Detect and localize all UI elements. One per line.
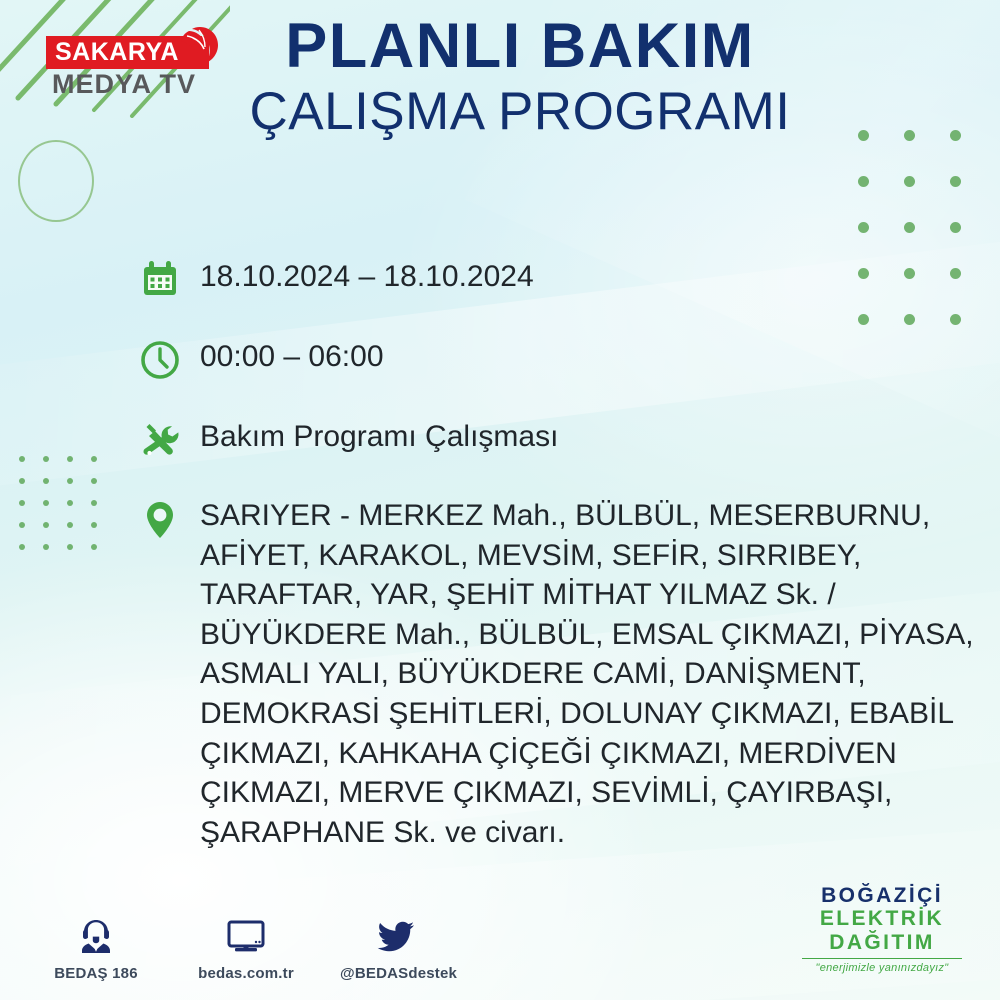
contact-phone[interactable]: BEDAŞ 186	[40, 911, 152, 982]
bedas-logo-line-1: BOĞAZİÇİ	[792, 884, 972, 908]
dot-grid-decoration-left	[10, 448, 106, 558]
map-pin-icon	[138, 492, 200, 548]
page-title: PLANLI BAKIM	[200, 14, 840, 78]
time-row: 00:00 – 06:00	[138, 332, 968, 388]
address-line: TARAFTAR, YAR, ŞEHİT MİTHAT YILMAZ Sk. /	[200, 575, 974, 615]
contact-website[interactable]: bedas.com.tr	[190, 911, 302, 982]
date-range-text: 18.10.2024 – 18.10.2024	[200, 252, 534, 296]
calendar-icon	[138, 252, 200, 308]
logo-sub-text: MEDYA TV	[52, 70, 206, 100]
bedas-logo-tagline: "enerjimizle yanınızdayız"	[792, 962, 972, 974]
address-line: BÜYÜKDERE Mah., BÜLBÜL, EMSAL ÇIKMAZI, P…	[200, 615, 974, 655]
footer-contacts: BEDAŞ 186 bedas.com.tr @BEDASdestek	[40, 911, 452, 982]
sakarya-medya-tv-logo: SAKARYA MEDYA TV	[46, 36, 206, 100]
address-line: AFİYET, KARAKOL, MEVSİM, SEFİR, SIRRIBEY…	[200, 536, 974, 576]
work-type-text: Bakım Programı Çalışması	[200, 412, 558, 456]
bedas-logo-line-2: ELEKTRİK	[792, 907, 972, 931]
address-line: ÇIKMAZI, MERVE ÇIKMAZI, SEVİMLİ, ÇAYIRBA…	[200, 773, 974, 813]
bedas-logo: BOĞAZİÇİ ELEKTRİK DAĞITIM "enerjimizle y…	[792, 884, 972, 974]
time-range-text: 00:00 – 06:00	[200, 332, 384, 376]
address-line: ÇIKMAZI, KAHKAHA ÇİÇEĞİ ÇIKMAZI, MERDİVE…	[200, 734, 974, 774]
logo-banner: SAKARYA	[46, 36, 209, 69]
contact-twitter[interactable]: @BEDASdestek	[340, 911, 452, 982]
poster-title-block: PLANLI BAKIM ÇALIŞMA PROGRAMI	[200, 14, 840, 142]
contact-twitter-label: @BEDASdestek	[340, 965, 452, 982]
twitter-bird-icon	[340, 911, 452, 957]
monitor-icon	[190, 911, 302, 957]
address-line: ŞARAPHANE Sk. ve civarı.	[200, 813, 974, 853]
headset-support-icon	[40, 911, 152, 957]
circle-outline-decoration	[18, 140, 94, 222]
work-type-row: Bakım Programı Çalışması	[138, 412, 968, 468]
address-line: SARIYER - MERKEZ Mah., BÜLBÜL, MESERBURN…	[200, 496, 974, 536]
date-row: 18.10.2024 – 18.10.2024	[138, 252, 968, 308]
clock-icon	[138, 332, 200, 388]
address-line: DEMOKRASİ ŞEHİTLERİ, DOLUNAY ÇIKMAZI, EB…	[200, 694, 974, 734]
poster-canvas: SAKARYA MEDYA TV PLANLI BAKIM ÇALIŞMA PR…	[0, 0, 1000, 1000]
page-subtitle: ÇALIŞMA PROGRAMI	[200, 82, 840, 141]
contact-website-label: bedas.com.tr	[190, 965, 302, 982]
address-text-block: SARIYER - MERKEZ Mah., BÜLBÜL, MESERBURN…	[200, 492, 974, 852]
bedas-logo-line-3: DAĞITIM	[792, 931, 972, 955]
location-row: SARIYER - MERKEZ Mah., BÜLBÜL, MESERBURN…	[138, 492, 968, 852]
address-line: ASMALI YALI, BÜYÜKDERE CAMİ, DANİŞMENT,	[200, 654, 974, 694]
logo-main-text: SAKARYA	[55, 38, 179, 66]
bedas-logo-divider	[802, 958, 962, 960]
outage-info-block: 18.10.2024 – 18.10.2024 00:00 – 06:00	[138, 252, 968, 852]
contact-phone-label: BEDAŞ 186	[40, 965, 152, 982]
tools-icon	[138, 412, 200, 468]
